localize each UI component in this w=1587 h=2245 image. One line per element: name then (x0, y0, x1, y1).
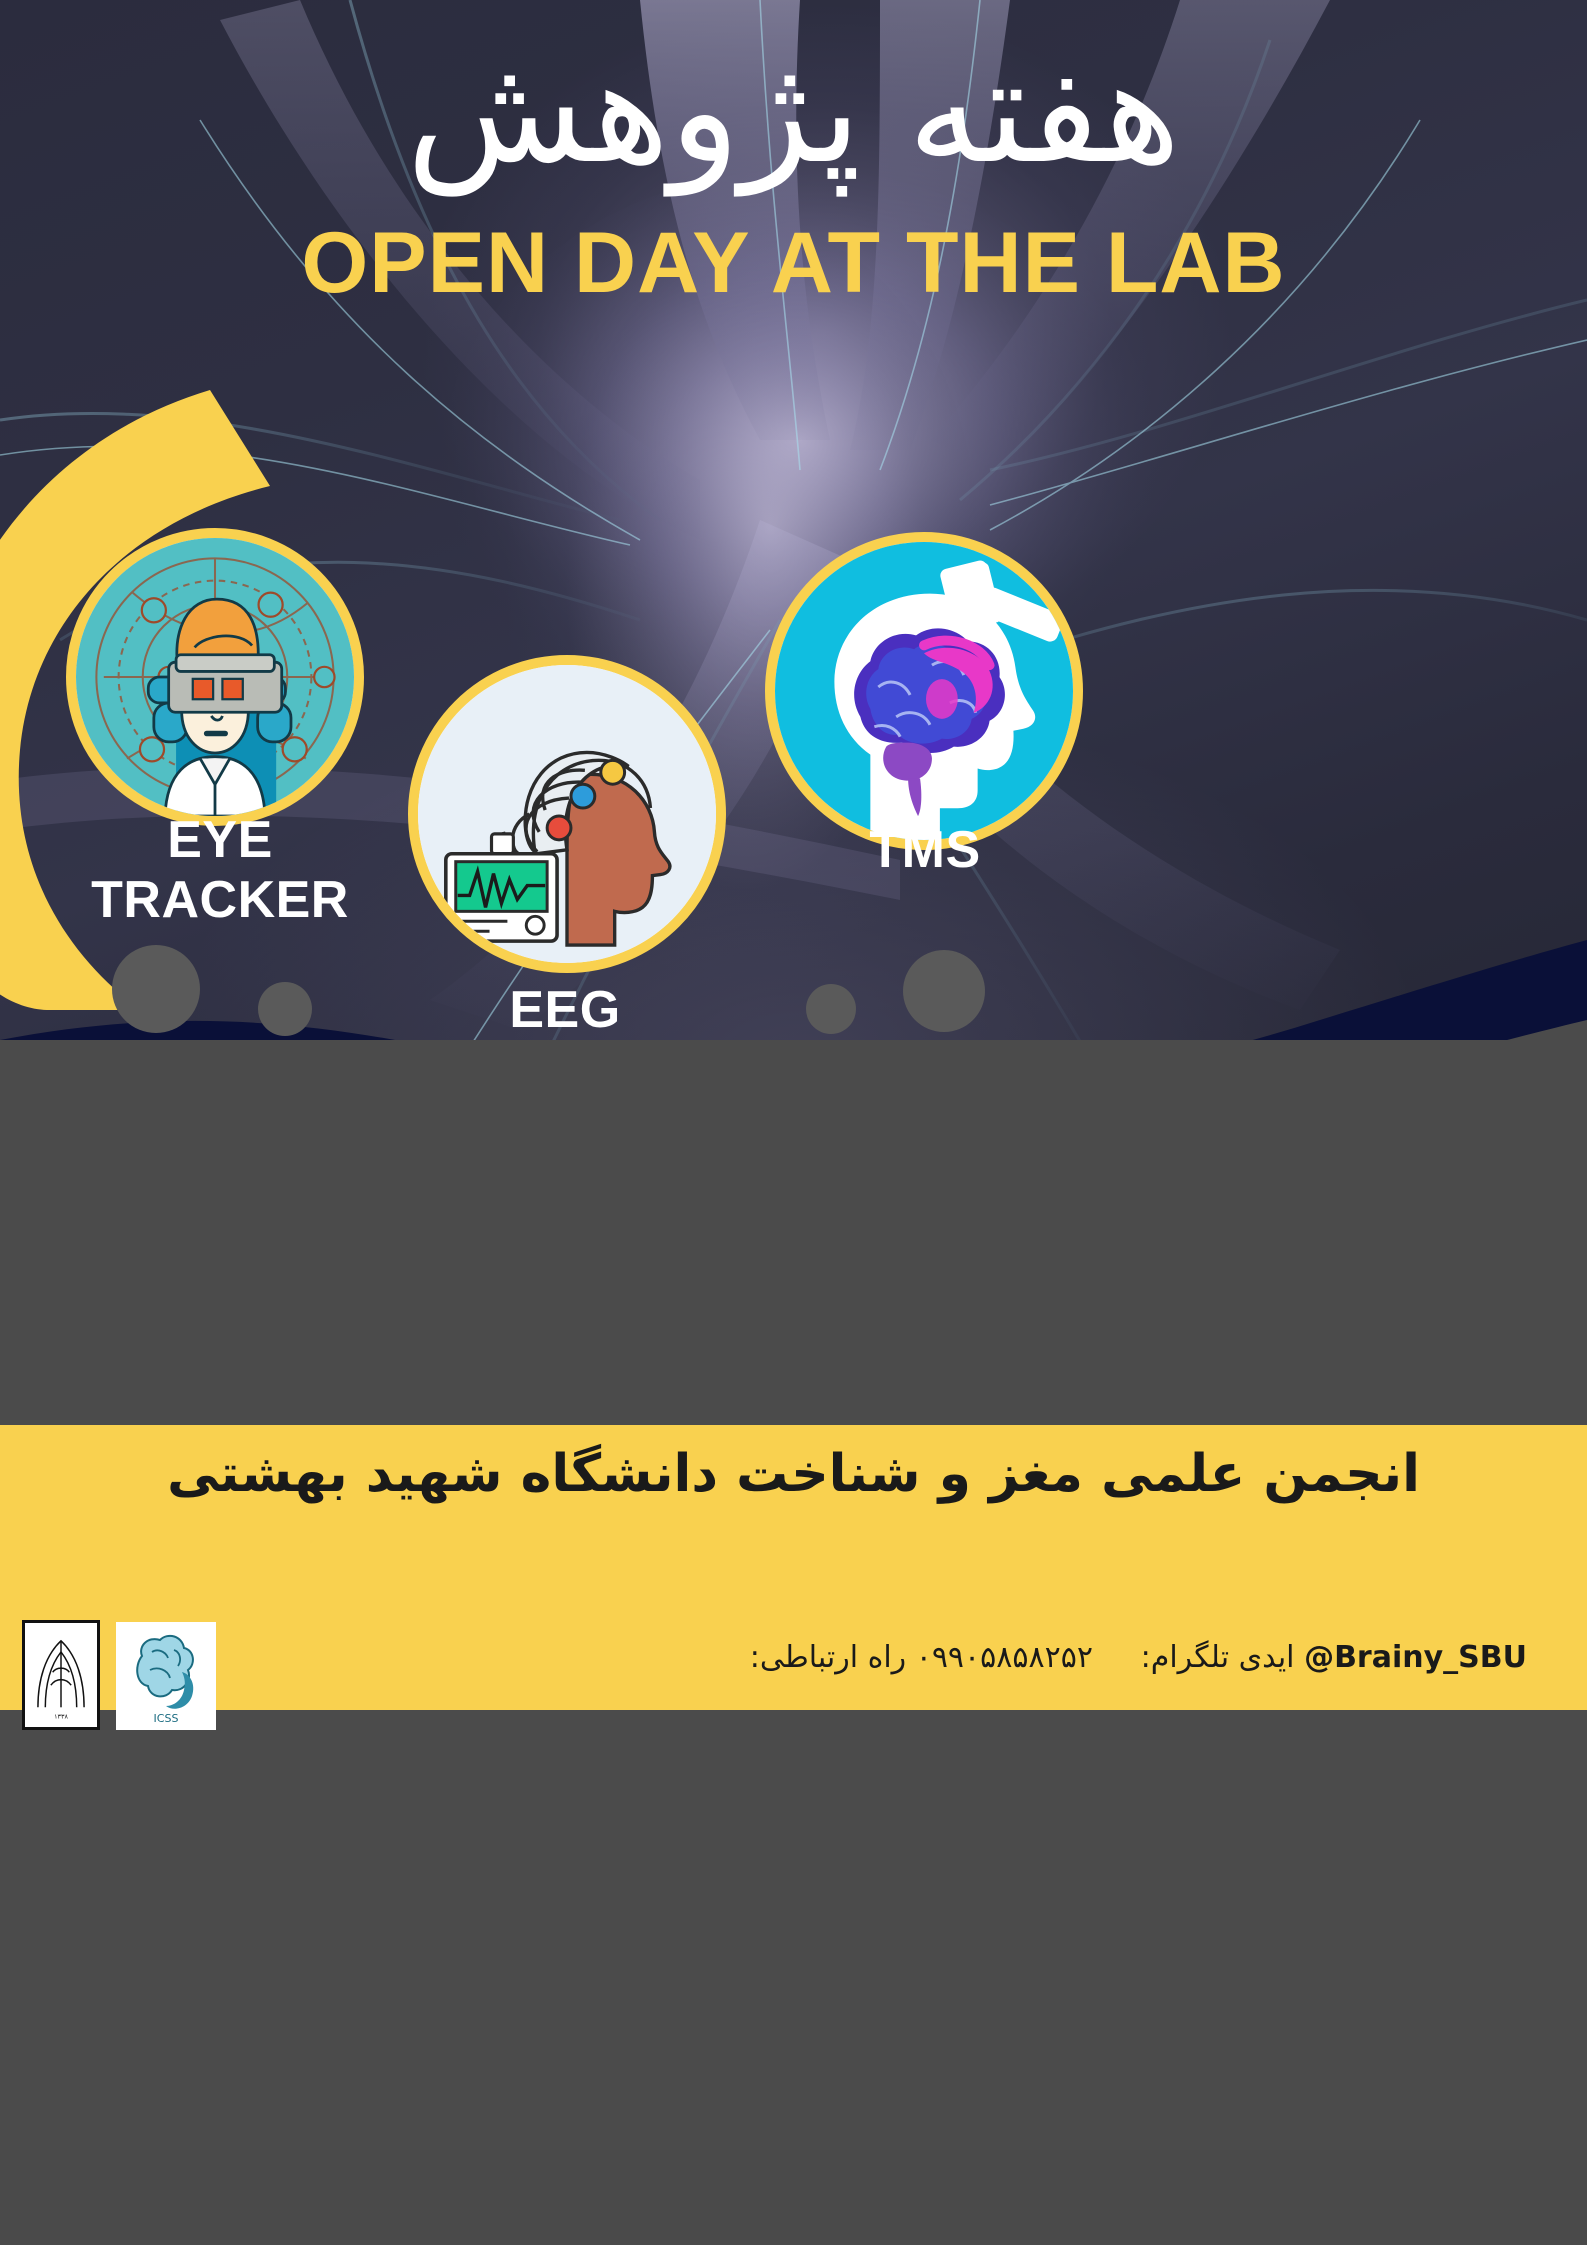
decor-dot-4 (903, 950, 985, 1032)
contact-label: راه ارتباطی: (750, 1640, 906, 1675)
sbu-university-logo: ۱۳۳۸ (22, 1620, 100, 1730)
info-section: شنبه ۱۸ آذر ۱۴۰۲ ساعت ۹ الی ۱۲ مکان : پژ… (0, 1120, 1587, 1410)
svg-text:۱۳۳۸: ۱۳۳۸ (54, 1712, 68, 1720)
eye-tracker-icon-circle (66, 528, 364, 826)
telegram-handle[interactable]: @Brainy_SBU (1304, 1640, 1527, 1675)
contact-phone: ۰۹۹۰۵۸۵۸۲۵۲ (916, 1640, 1093, 1675)
poster-root: هفته پژوهش OPEN DAY AT THE LAB (0, 0, 1587, 2245)
university-crest-icon: ۱۳۳۸ (25, 1623, 97, 1727)
svg-text:ICSS: ICSS (154, 1712, 179, 1725)
eye-tracker-label: EYE TRACKER (40, 810, 400, 930)
association-brain-logo: ICSS (116, 1622, 216, 1730)
eye-tracker-icon (76, 538, 354, 816)
page-title-english: OPEN DAY AT THE LAB (0, 214, 1587, 313)
tms-label: TMS (765, 820, 1085, 880)
eeg-label: EEG (400, 980, 730, 1040)
telegram-label: ایدی تلگرام: (1141, 1640, 1295, 1675)
decor-dot-1 (112, 945, 200, 1033)
footer-contact-line: @Brainy_SBU ایدی تلگرام: ۰۹۹۰۵۸۵۸۲۵۲ راه… (750, 1640, 1527, 1675)
tms-icon-circle (765, 532, 1083, 850)
footer-organization: انجمن علمی مغز و شناخت دانشگاه شهید بهشت… (0, 1444, 1587, 1504)
description-column: مفتخریم که در انجمن علمی مغز و شناخت دان… (995, 2238, 1525, 2245)
page-title-persian: هفته پژوهش (0, 20, 1587, 203)
brain-logo-icon: ICSS (116, 1622, 216, 1730)
tms-icon (775, 542, 1073, 840)
decor-dot-2 (258, 982, 312, 1036)
description-paragraph-1: مفتخریم که در انجمن علمی مغز و شناخت دان… (995, 2238, 1525, 2245)
footer-band-bottom (0, 1555, 1587, 1710)
decor-dot-3 (806, 984, 856, 1034)
eeg-icon-circle (408, 655, 726, 973)
eeg-icon (418, 665, 716, 963)
